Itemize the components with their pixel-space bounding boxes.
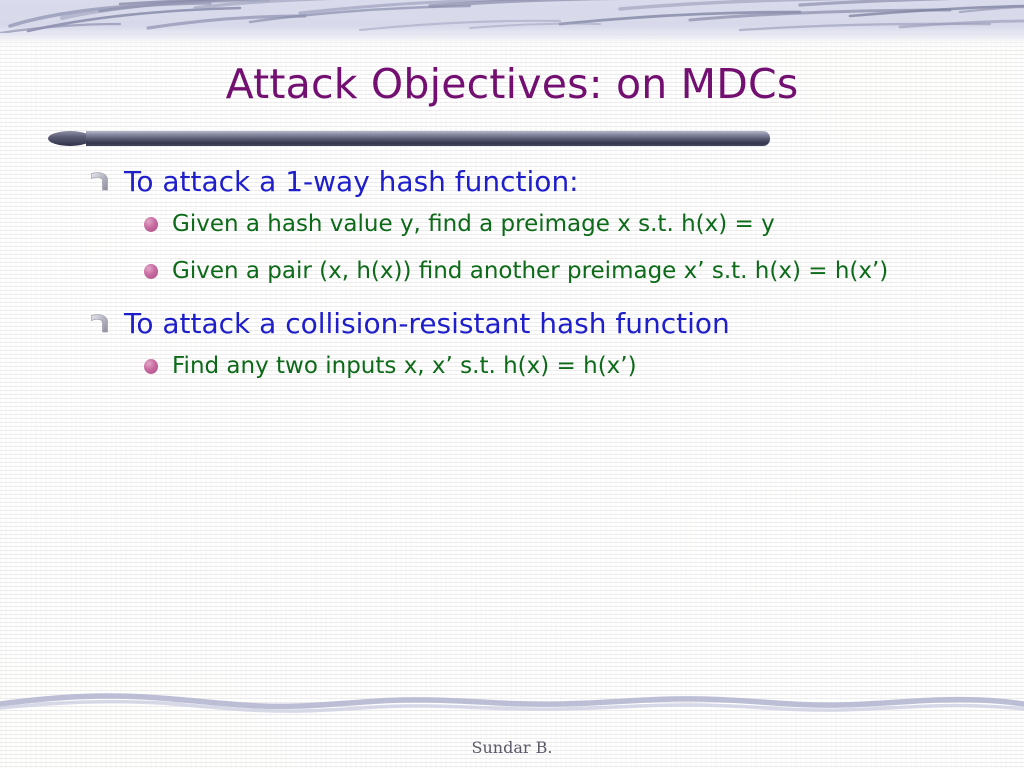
top-banner: [0, 0, 1024, 36]
slide-title: Attack Objectives: on MDCs: [0, 60, 1024, 108]
bullet-level2: Given a pair (x, h(x)) find another prei…: [0, 253, 1024, 290]
bullet-level1-text: To attack a collision-resistant hash fun…: [124, 307, 730, 340]
round-dot-bullet-icon: [144, 264, 158, 279]
bullet-level1: To attack a collision-resistant hash fun…: [0, 304, 1024, 346]
bullet-level2-text: Given a hash value y, find a preimage x …: [172, 211, 775, 237]
slide-body: To attack a 1-way hash function: Given a…: [0, 162, 1024, 385]
hook-bullet-icon: [88, 311, 114, 337]
round-dot-bullet-icon: [144, 359, 158, 374]
footer-author: Sundar B.: [0, 738, 1024, 757]
wavy-line-icon: [0, 686, 1024, 722]
hook-bullet-icon: [88, 169, 114, 195]
bullet-level1: To attack a 1-way hash function:: [0, 162, 1024, 204]
bullet-level2-text: Given a pair (x, h(x)) find another prei…: [172, 258, 888, 284]
bullet-level2: Given a hash value y, find a preimage x …: [0, 206, 1024, 243]
bottom-divider: [0, 686, 1024, 722]
bullet-level2-text: Find any two inputs x, x’ s.t. h(x) = h(…: [172, 353, 637, 379]
slide-canvas: Attack Objectives: on MDCs: [0, 0, 1024, 768]
title-rule: [48, 131, 770, 146]
brush-strokes-banner-icon: [0, 0, 1024, 36]
round-dot-bullet-icon: [144, 217, 158, 232]
bullet-level2: Find any two inputs x, x’ s.t. h(x) = h(…: [0, 348, 1024, 385]
bullet-spacer: [0, 243, 1024, 253]
bullet-level1-text: To attack a 1-way hash function:: [124, 165, 579, 198]
bullet-spacer: [0, 290, 1024, 304]
title-rule-bar: [86, 131, 770, 146]
